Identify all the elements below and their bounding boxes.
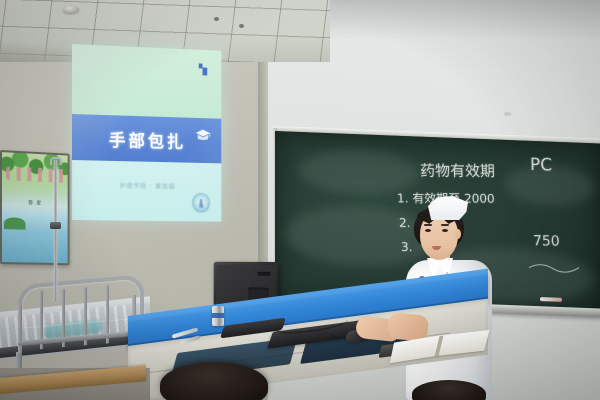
classroom-scene: 手部包扎 护理学院 · 黄丽娟 春 夏 药物有效期 PC 1. 有效期至 200…	[0, 0, 600, 400]
chalk-underline-icon	[527, 259, 581, 275]
nurse-cap-icon	[428, 196, 468, 220]
chalk-text: 药物有效期	[420, 160, 496, 181]
wall-scuff	[504, 112, 511, 116]
iv-hook-icon	[50, 157, 62, 165]
poster-island	[4, 217, 26, 230]
beverage-can	[212, 306, 224, 326]
institution-seal-icon	[192, 193, 210, 213]
projection-screen: 手部包扎 护理学院 · 黄丽娟	[72, 44, 221, 222]
ceiling-fixture	[214, 17, 219, 21]
ceiling-fixture	[239, 24, 244, 28]
poster-caption: 春 夏	[28, 199, 42, 206]
hospital-bed-rail	[18, 275, 136, 349]
graduation-cap-icon	[195, 129, 211, 143]
smoke-detector-icon	[63, 6, 79, 13]
nurse-eyebrow	[441, 224, 449, 226]
blue-blocks-mark-icon	[199, 63, 209, 76]
nurse-ear	[455, 229, 461, 239]
chalk-text: 750	[533, 233, 560, 249]
iv-drip-stand	[54, 160, 57, 302]
nurse-eye	[442, 229, 448, 232]
foreground-student-head	[160, 362, 268, 400]
nurse-eyebrow	[424, 224, 432, 226]
foreground-student-head	[412, 380, 486, 400]
iv-clamp	[50, 222, 61, 229]
nature-scenery-poster: 春 夏	[0, 150, 70, 265]
nurse-eye	[425, 229, 431, 232]
slide-band-top	[72, 44, 221, 119]
chalk-text: PC	[530, 155, 553, 175]
chalk-stick	[540, 297, 562, 302]
monitor-vent	[258, 272, 271, 276]
